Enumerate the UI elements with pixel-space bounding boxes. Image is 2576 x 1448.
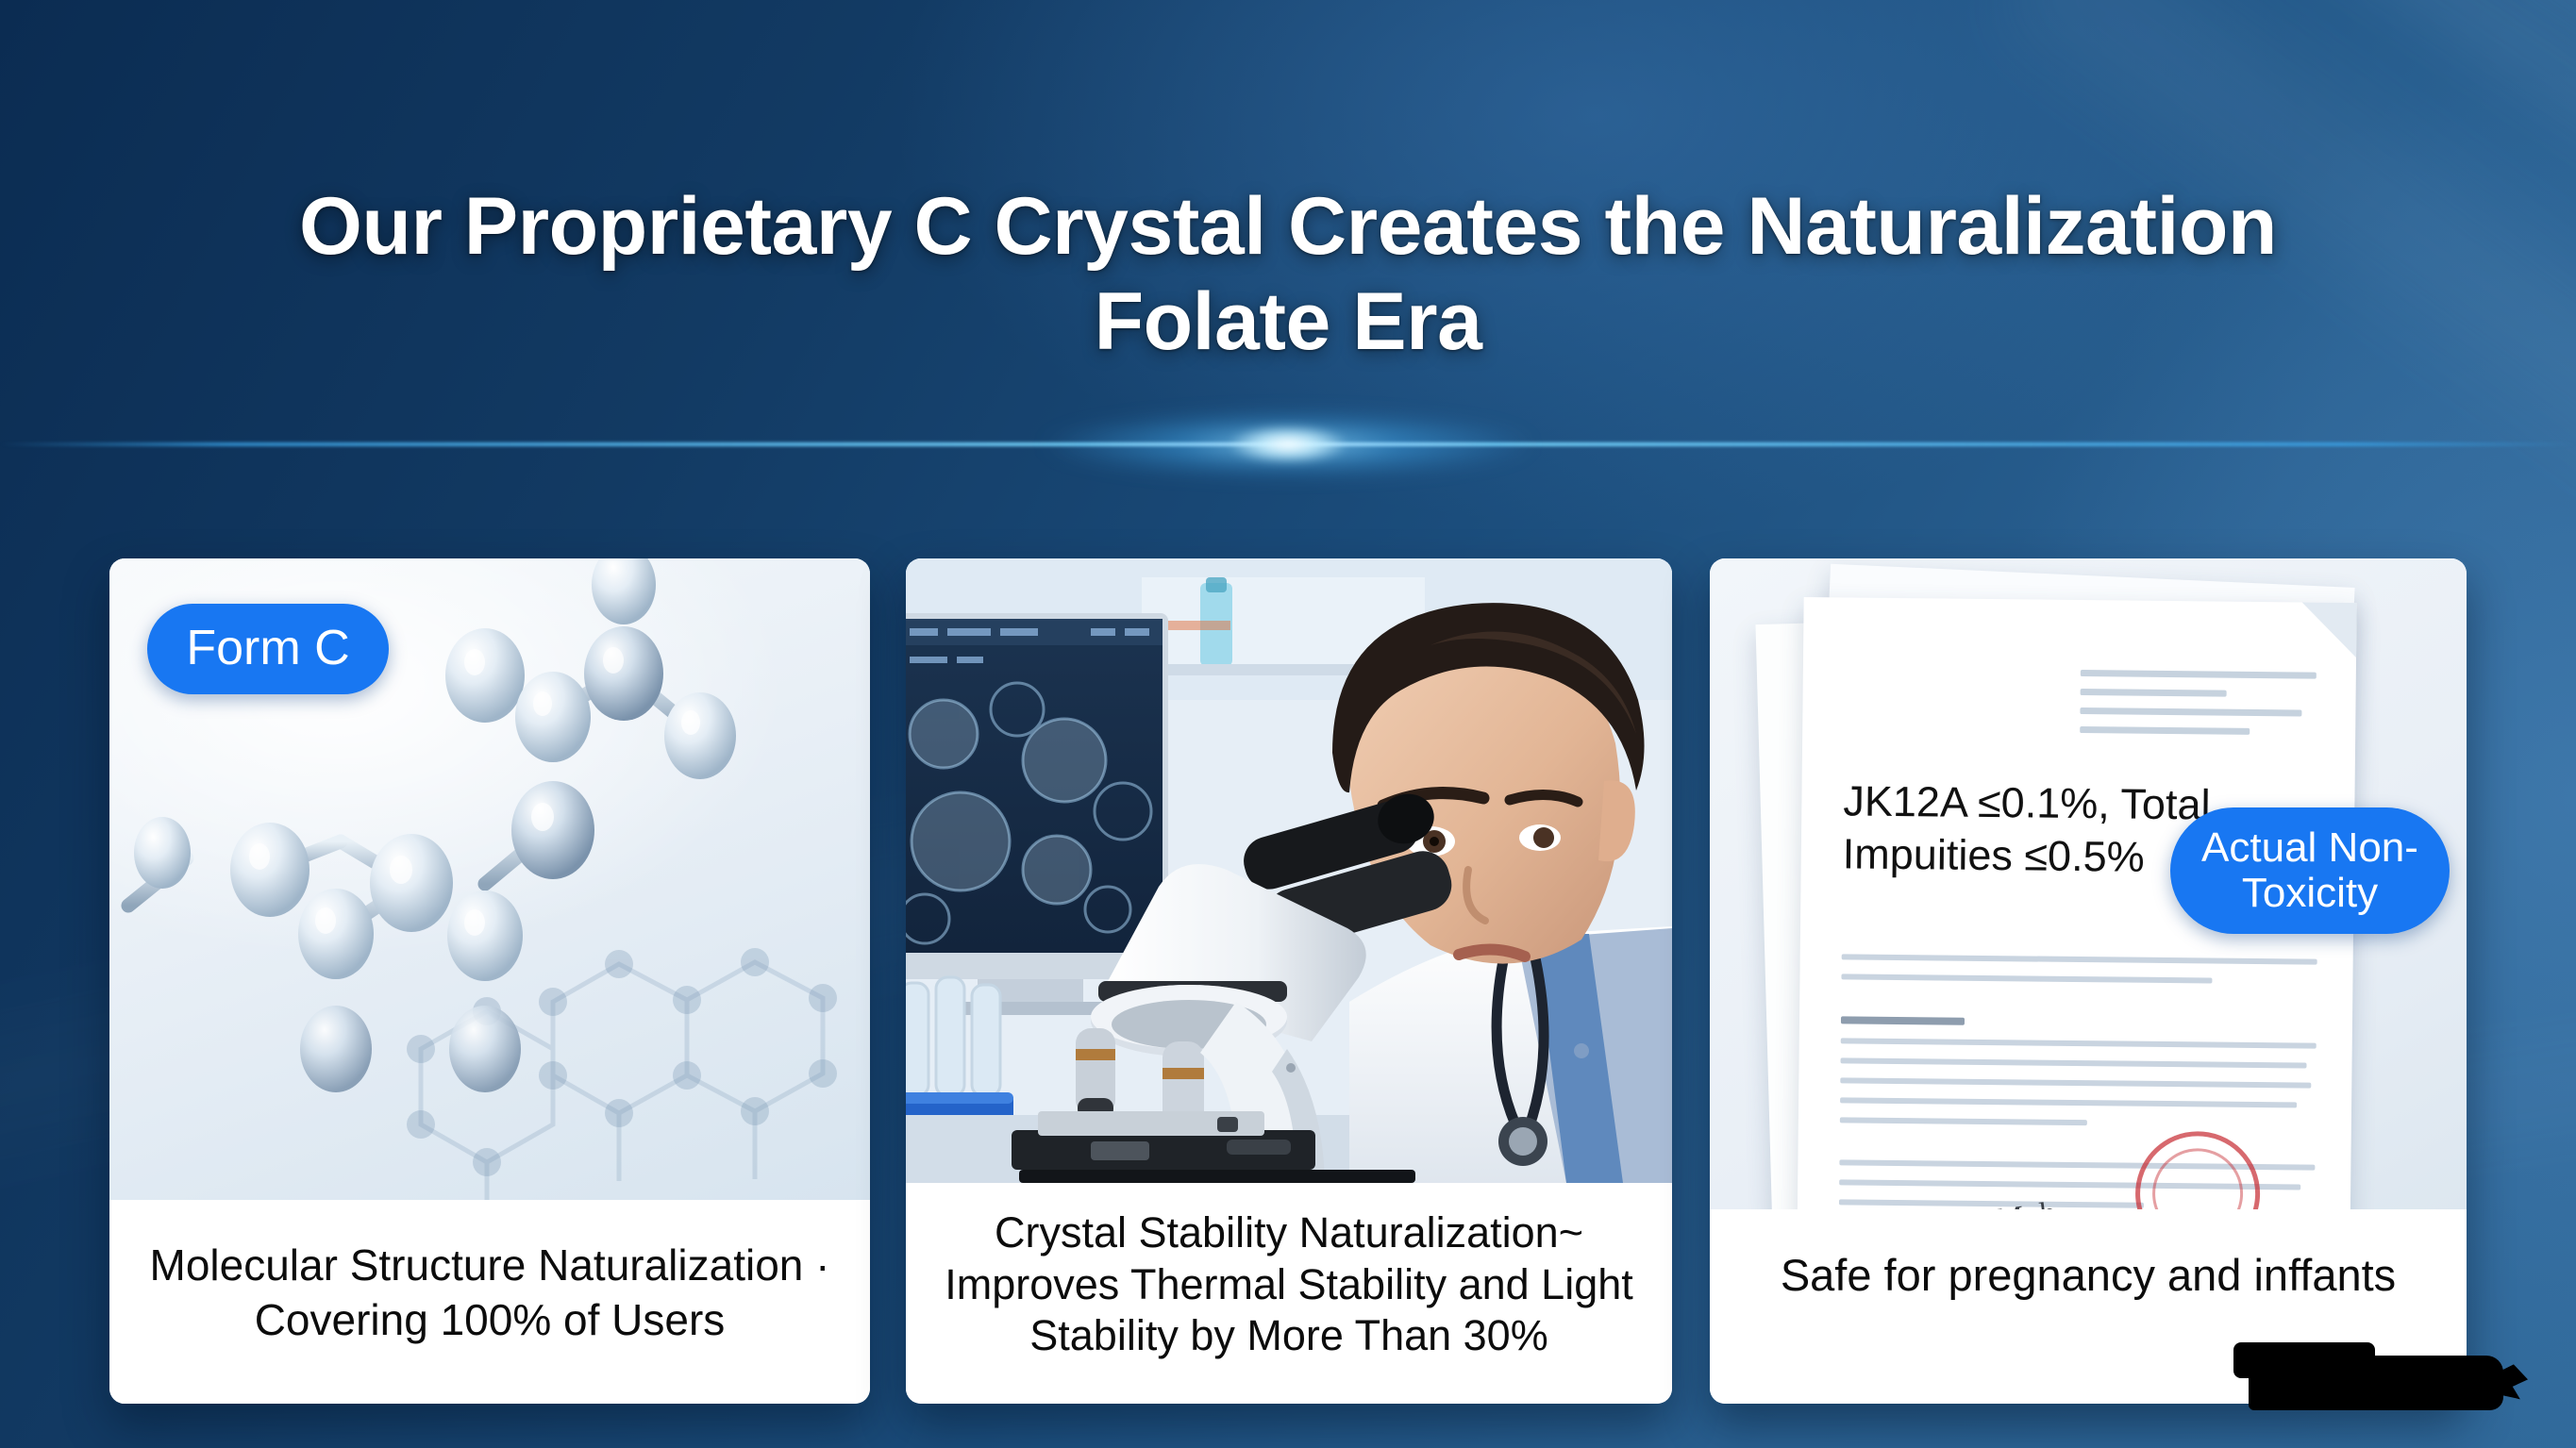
card-row: Form C Molecular Structure Naturalizatio… [0,558,2576,1407]
document-header-lines [2080,670,2317,748]
background-streak-1 [1518,0,2576,173]
badge-form-c[interactable]: Form C [147,604,389,694]
divider-flare [1231,426,1345,462]
card-1-media: Form C [109,558,870,1200]
title-block: Our Proprietary C Crystal Creates the Na… [0,179,2576,371]
glow-divider [0,440,2576,449]
redaction-blob [2249,1356,2503,1410]
card-molecular-structure[interactable]: Form C Molecular Structure Naturalizatio… [109,558,870,1404]
card-1-caption-area: Molecular Structure Naturalization · Cov… [109,1200,870,1404]
card-2-media [906,558,1672,1183]
page-title: Our Proprietary C Crystal Creates the Na… [0,179,2576,371]
card-1-caption: Molecular Structure Naturalization · Cov… [134,1239,845,1348]
microscope-scientist-illustration [906,558,1672,1183]
card-crystal-stability[interactable]: Crystal Stability Naturalization~ Improv… [906,558,1672,1404]
page-fold-corner [2301,602,2357,657]
card-3-caption: Safe for pregnancy and inffants [1781,1247,2396,1303]
card-safety-certificate[interactable]: JK12A ≤0.1%, Total Impuities ≤0.5% [1710,558,2467,1404]
card-3-media: JK12A ≤0.1%, Total Impuities ≤0.5% [1710,558,2467,1209]
badge-actual-non-toxicity[interactable]: Actual Non-Toxicity [2170,807,2450,934]
slide-root: Our Proprietary C Crystal Creates the Na… [0,0,2576,1448]
card-2-caption-area: Crystal Stability Naturalization~ Improv… [906,1183,1672,1404]
card-2-caption: Crystal Stability Naturalization~ Improv… [930,1207,1648,1363]
